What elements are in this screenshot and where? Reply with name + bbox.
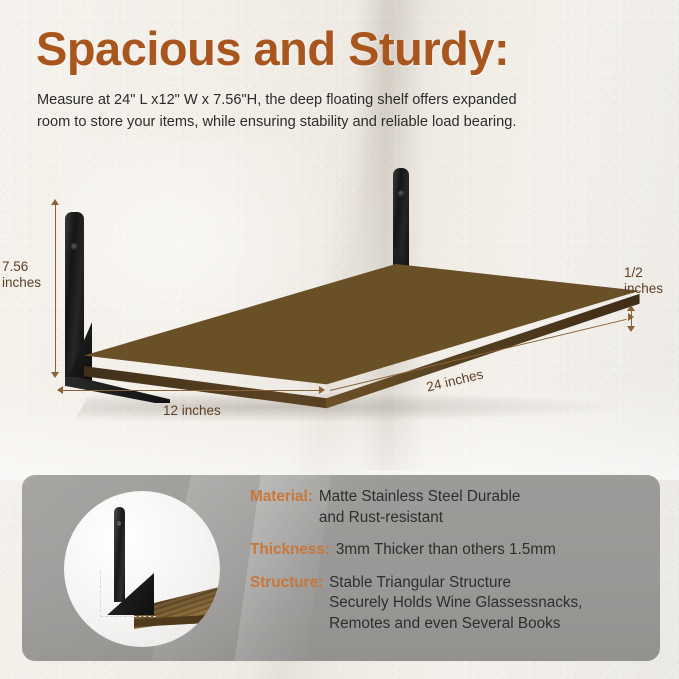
closeup-triangle-outline: [100, 571, 156, 617]
shelf-illustration: [0, 160, 679, 425]
thickness-arrow-bottom: [627, 326, 635, 332]
bracket-left: [62, 212, 172, 427]
spec-key-material: Material:: [250, 487, 313, 508]
spec-panel: Material: Matte Stainless Steel Durable …: [22, 475, 660, 661]
spec-list: Material: Matte Stainless Steel Durable …: [250, 487, 650, 646]
page-title: Spacious and Sturdy:: [36, 21, 509, 76]
spec-value-material: Matte Stainless Steel Durable and Rust-r…: [319, 487, 521, 528]
depth-dimension-label: 12 inches: [163, 403, 221, 419]
spec-key-thickness: Thickness:: [250, 540, 330, 561]
closeup-screw-hole-icon: [117, 521, 121, 526]
thickness-dimension-label: 1/2 inches: [624, 265, 663, 297]
height-arrow-bottom: [51, 372, 59, 378]
spec-row-material: Material: Matte Stainless Steel Durable …: [250, 487, 650, 528]
product-infographic: Spacious and Sturdy: Measure at 24" L x1…: [0, 0, 679, 679]
length-arrow-right: [628, 313, 634, 321]
spec-value-thickness: 3mm Thicker than others 1.5mm: [336, 540, 556, 561]
spec-value-structure: Stable Triangular Structure Securely Hol…: [329, 573, 582, 635]
height-arrow-top: [51, 199, 59, 205]
screw-hole-icon: [398, 190, 405, 198]
depth-arrow-left: [57, 386, 63, 394]
description-text: Measure at 24" L x12" W x 7.56"H, the de…: [37, 90, 537, 133]
spec-key-structure: Structure:: [250, 573, 323, 594]
height-dimension-line: [55, 205, 56, 373]
height-dimension-label: 7.56 inches: [2, 259, 41, 291]
spec-row-thickness: Thickness: 3mm Thicker than others 1.5mm: [250, 540, 650, 561]
bracket-closeup-image: [64, 491, 220, 647]
spec-row-structure: Structure: Stable Triangular Structure S…: [250, 573, 650, 635]
screw-hole-icon: [71, 243, 78, 251]
thickness-arrow-top: [627, 305, 635, 311]
depth-dimension-line: [62, 390, 324, 391]
depth-arrow-right: [319, 386, 325, 394]
